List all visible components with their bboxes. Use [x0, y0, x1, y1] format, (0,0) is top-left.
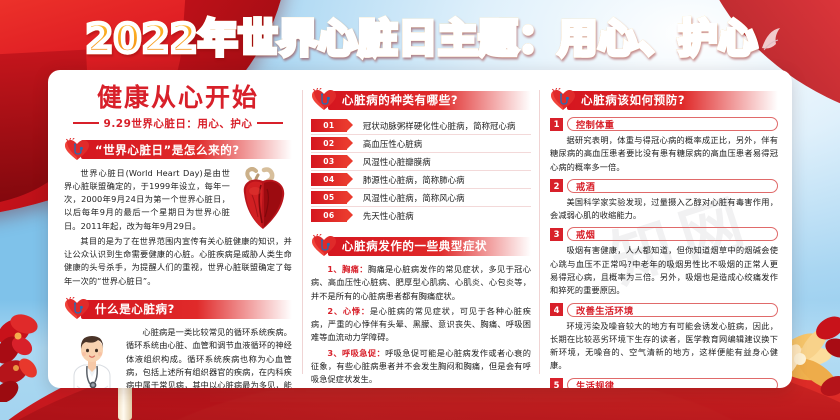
right-column: 心脏病该如何预防? 1 控制体重 据研究表明，体重与得冠心病的概率成正比，另外，…	[542, 76, 782, 388]
left-main-heading: 健康从心开始	[64, 84, 292, 112]
list-item: 01 冠状动脉粥样硬化性心脏病，简称冠心病	[311, 117, 531, 135]
section-title-text: 心脏病发作的一些典型症状	[342, 238, 487, 254]
heart-stethoscope-icon	[311, 88, 337, 112]
symptom-label: 3、呼吸急促：	[327, 348, 385, 358]
list-item-number: 02	[311, 137, 347, 150]
section-title-text: “世界心脏日”是怎么来的?	[95, 142, 240, 158]
prevention-item-header: 2 戒酒	[550, 179, 778, 193]
section-heart-disease-prevention: 心脏病该如何预防?	[550, 88, 778, 112]
list-item: 02 高血压性心脏病	[311, 135, 531, 153]
origin-paragraph-2: 其目的是为了在世界范围内宣传有关心脏健康的知识，并让公众认识到生命需要健康的心脏…	[64, 235, 292, 288]
list-item-number: 01	[311, 119, 347, 132]
prevention-item-pill: 生活规律	[567, 378, 778, 388]
prevention-item-pill: 改善生活环境	[567, 303, 778, 317]
prevention-item-header: 4 改善生活环境	[550, 303, 778, 317]
list-item-label: 高血压性心脏病	[363, 138, 422, 150]
heart-stethoscope-icon	[550, 88, 576, 112]
poster-title: 2022年世界心脏日主题：用心、护心	[86, 8, 759, 64]
list-item-label: 肺源性心脏病，简称肺心病	[363, 174, 465, 186]
symptom-item: 3、呼吸急促：呼吸急促可能是心脏病发作或者心衰的征象，有些心脏病患者并不会发生胸…	[311, 347, 531, 387]
prevention-item-number: 4	[550, 303, 563, 316]
heart-disease-type-list: 01 冠状动脉粥样硬化性心脏病，简称冠心病 02 高血压性心脏病 03 风湿性心…	[311, 117, 531, 224]
heart-stethoscope-icon	[64, 297, 90, 321]
section-title-text: 心脏病的种类有哪些?	[342, 92, 458, 108]
prevention-item-title: 生活规律	[576, 378, 614, 388]
list-item-label: 风湿性心脏瓣膜病	[363, 156, 431, 168]
left-sub-heading-text: 9.29世界心脏日：用心、护心	[104, 116, 253, 131]
section-title-bar: 心脏病的种类有哪些?	[328, 91, 531, 110]
prevention-item-pill: 戒烟	[567, 227, 778, 241]
prevention-item-title: 戒酒	[576, 179, 595, 193]
prevention-item-header: 5 生活规律	[550, 378, 778, 388]
list-item-number: 04	[311, 173, 347, 186]
list-item-number: 03	[311, 155, 347, 168]
left-sub-heading: 9.29世界心脏日：用心、护心	[64, 116, 292, 131]
anatomical-heart-image	[234, 167, 292, 231]
prevention-item-number: 2	[550, 179, 563, 192]
symptom-item: 2、心悸：是心脏病的常见症状，可见于各种心脏疾病，严重的心悸伴有头晕、黑朦、意识…	[311, 305, 531, 345]
dove-icon	[758, 26, 784, 56]
section-title-bar: 什么是心脏病?	[81, 300, 292, 319]
prevention-item-number: 3	[550, 228, 563, 241]
rule-right	[257, 122, 283, 123]
list-item: 06 先天性心脏病	[311, 207, 531, 224]
section-world-heart-day-origin: “世界心脏日”是怎么来的?	[64, 138, 292, 162]
list-item-label: 先天性心脏病	[363, 210, 414, 222]
symptom-label: 1、胸痛：	[327, 264, 368, 274]
list-item-number: 05	[311, 191, 347, 204]
list-item: 03 风湿性心脏瓣膜病	[311, 153, 531, 171]
section-heart-disease-types: 心脏病的种类有哪些?	[311, 88, 531, 112]
middle-column: 心脏病的种类有哪些? 01 冠状动脉粥样硬化性心脏病，简称冠心病 02 高血压性…	[305, 76, 537, 388]
section-title-text: 心脏病该如何预防?	[581, 92, 685, 108]
list-item-label: 风湿性心脏病，简称风心病	[363, 192, 465, 204]
column-divider-2	[539, 90, 540, 374]
prevention-item-text: 环境污染及噪音较大的地方有可能会诱发心脏病，因此，长期在比较恶劣环境下生存的读者…	[550, 320, 778, 373]
section-what-is-heart-disease: 什么是心脏病?	[64, 297, 292, 321]
list-item: 04 肺源性心脏病，简称肺心病	[311, 171, 531, 189]
poster-title-banner: 2022年世界心脏日主题：用心、护心	[92, 10, 752, 62]
prevention-item-pill: 控制体重	[567, 117, 778, 131]
list-item-label: 冠状动脉粥样硬化性心脏病，简称冠心病	[363, 120, 516, 132]
section-title-bar: 心脏病该如何预防?	[567, 91, 778, 110]
symptom-item: 1、胸痛：胸痛是心脏病发作的常见症状，多见于冠心病、高血压性心脏病、肥厚型心肌病…	[311, 263, 531, 303]
heart-stethoscope-icon	[64, 138, 90, 162]
prevention-item-title: 控制体重	[576, 117, 614, 131]
prevention-item-title: 戒烟	[576, 227, 595, 241]
list-item: 05 风湿性心脏病，简称风心病	[311, 189, 531, 207]
section-heart-attack-symptoms: 心脏病发作的一些典型症状	[311, 234, 531, 258]
prevention-item-text: 吸烟有害健康，人人都知道，但你知道烟草中的烟碱会使心跳与血压不正常吗?中老年的吸…	[550, 244, 778, 297]
prevention-item-title: 改善生活环境	[576, 303, 634, 317]
heart-stethoscope-icon	[311, 234, 337, 258]
rule-left	[73, 122, 99, 123]
prevention-item-header: 3 戒烟	[550, 227, 778, 241]
symptom-label: 2、心悸：	[327, 306, 370, 316]
prevention-item-header: 1 控制体重	[550, 117, 778, 131]
section-title-bar: “世界心脏日”是怎么来的?	[81, 140, 292, 159]
doctor-illustration	[64, 328, 120, 388]
column-divider-1	[302, 90, 303, 374]
left-column: 健康从心开始 9.29世界心脏日：用心、护心	[58, 76, 300, 388]
prevention-item-text: 美国科学家实验发现，过量摄入乙醇对心脏有毒害作用，会减弱心肌的收缩能力。	[550, 196, 778, 223]
list-item-number: 06	[311, 209, 347, 222]
section-title-bar: 心脏病发作的一些典型症状	[328, 237, 531, 256]
section-title-text: 什么是心脏病?	[95, 301, 175, 317]
content-card: 知网 健康从心开始 9.29世界心脏日：用心、护心	[48, 70, 792, 388]
prevention-item-text: 据研究表明，体重与得冠心病的概率成正比，另外，伴有糖尿病的高血压患者要比没有患有…	[550, 134, 778, 174]
prevention-item-number: 5	[550, 378, 563, 388]
prevention-item-number: 1	[550, 118, 563, 131]
prevention-item-pill: 戒酒	[567, 179, 778, 193]
poster-canvas: 2022年世界心脏日主题：用心、护心 知网 健康从心开始 9.29世界心脏日：用…	[0, 0, 840, 420]
